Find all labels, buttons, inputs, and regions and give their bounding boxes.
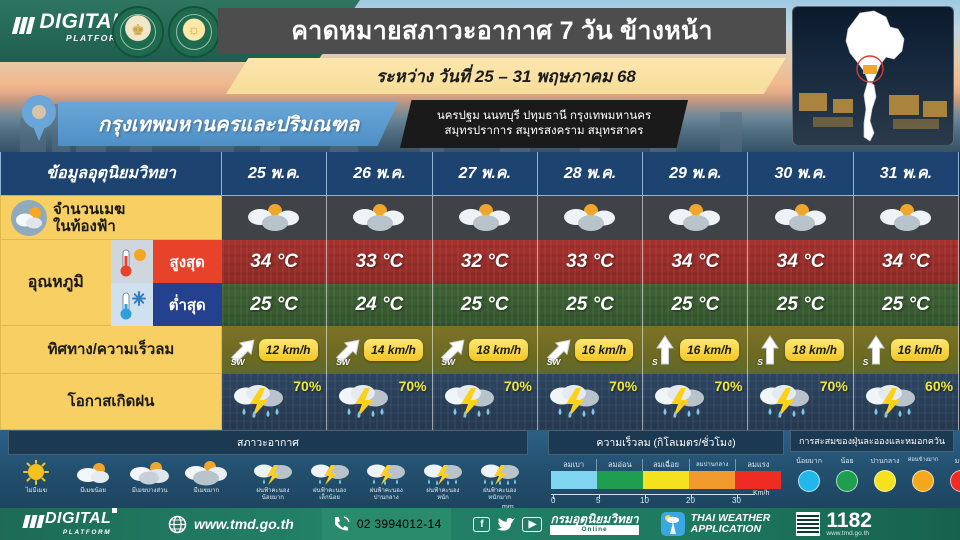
dust-band-2: ปานกลาง bbox=[866, 456, 904, 467]
footer-logo-subtitle: PLATFORM bbox=[45, 528, 111, 538]
dust-legend-captions: น้อยมาก น้อย ปานกลาง ค่อนข้างมาก มาก bbox=[790, 456, 960, 467]
wind-band-0: ลมเบา bbox=[551, 459, 596, 471]
website-text: www.tmd.go.th bbox=[194, 516, 294, 532]
temp-min-tag: ต่ำสุด bbox=[153, 283, 223, 326]
cloud-label-line1: จำนวนเมฆ bbox=[53, 201, 125, 218]
wind-arrow-icon-4: SW bbox=[547, 333, 573, 367]
wind-speed-1: 12 km/h bbox=[259, 339, 318, 361]
rain-chance-4: 70% bbox=[609, 378, 637, 394]
wind-speed-3: 18 km/h bbox=[469, 339, 528, 361]
province-line-2: สมุทรปราการ สมุทรสงคราม สมุทรสาคร bbox=[445, 124, 644, 139]
thunderstorm-icon-3 bbox=[439, 378, 501, 426]
hotline-number: 1182 bbox=[826, 511, 872, 530]
temp-min-legend: ต่ำสุด bbox=[111, 283, 223, 326]
temp-min-value-4: 25 °C bbox=[566, 294, 614, 316]
temp-max-cell-5: 34 °C bbox=[643, 240, 748, 284]
weather-legend: สภาวะอากาศ ไม่มีเมฆ มีเมฆน้อย มีเมฆบางส่… bbox=[8, 430, 528, 520]
date-header-6: 30 พ.ค. bbox=[748, 152, 853, 196]
temp-max-value-1: 34 °C bbox=[250, 251, 298, 273]
cloud-cell-2 bbox=[327, 196, 432, 240]
header-banner: DIGITAL PLATFORM ♚ ☼ คาดหมายสภาวะอากาศ 7… bbox=[0, 0, 960, 152]
legend-cloud-3: มีเมฆมาก bbox=[178, 460, 235, 495]
phone-icon bbox=[332, 515, 350, 533]
thailand-outline-icon bbox=[834, 9, 912, 145]
wind-speed-6: 18 km/h bbox=[785, 339, 844, 361]
wind-arrow-icon-7: S bbox=[863, 333, 889, 367]
dust-band-1: น้อย bbox=[828, 456, 866, 467]
phone-block[interactable]: 02 3994012-14 bbox=[322, 508, 452, 540]
temp-max-value-2: 33 °C bbox=[356, 251, 404, 273]
phone-text: 02 3994012-14 bbox=[357, 517, 442, 531]
temp-max-cell-6: 34 °C bbox=[748, 240, 853, 284]
thunderstorm-icon-4 bbox=[544, 378, 606, 426]
rain-chance-7: 60% bbox=[925, 378, 953, 394]
temp-min-cell-2: 24 °C bbox=[327, 284, 432, 326]
wind-scale-2: 10 bbox=[640, 496, 649, 505]
rain-chance-3: 70% bbox=[504, 378, 532, 394]
wind-legend-captions: ลมเบา ลมอ่อน ลมเฉื่อย ลมปานกลาง ลมแรง bbox=[551, 459, 781, 471]
wind-cell-6: S 18 km/h bbox=[748, 326, 853, 374]
wind-dir-2: SW bbox=[336, 357, 350, 367]
temp-min-value-7: 25 °C bbox=[882, 294, 930, 316]
dust-band-0: น้อยมาก bbox=[790, 456, 828, 467]
temp-max-value-3: 32 °C bbox=[461, 251, 509, 273]
wind-dir-5: S bbox=[652, 357, 658, 367]
footer-logo-title: DIGITAL bbox=[45, 510, 111, 527]
legend-cloud-0: ไม่มีเมฆ bbox=[8, 460, 65, 495]
wind-speed-4: 16 km/h bbox=[575, 339, 634, 361]
legend-rain-caption-2: ฝนฟ้าคะนองปานกลาง bbox=[370, 488, 403, 502]
cloud-cell-4 bbox=[538, 196, 643, 240]
wind-dir-6: S bbox=[757, 357, 763, 367]
dust-legend-title: การสะสมของฝุ่นละอองและหมอกควัน bbox=[790, 430, 954, 452]
wind-scale-4: 30 bbox=[732, 496, 741, 505]
wind-legend: ความเร็วลม (กิโลเมตร/ชั่วโมง) ลมเบา ลมอ่… bbox=[548, 430, 784, 505]
wind-arrow-icon-1: SW bbox=[231, 333, 257, 367]
region-name: กรุงเทพมหานครและปริมณฑล bbox=[98, 108, 359, 140]
agency-name: กรมอุตุนิยมวิทยา bbox=[550, 512, 638, 526]
date-header-2: 26 พ.ค. bbox=[327, 152, 432, 196]
thunderstorm-icon-5 bbox=[649, 378, 711, 426]
temp-max-cell-7: 34 °C bbox=[854, 240, 959, 284]
wind-cell-2: SW 14 km/h bbox=[327, 326, 432, 374]
rain-cell-5: 70% bbox=[643, 374, 748, 430]
wind-dir-4: SW bbox=[547, 357, 561, 367]
legend-rain-caption-4: ฝนฟ้าคะนองหนักมาก bbox=[483, 488, 516, 502]
rain-cell-4: 70% bbox=[538, 374, 643, 430]
dust-legend: การสะสมของฝุ่นละอองและหมอกควัน น้อยมาก น… bbox=[790, 430, 954, 492]
wind-arrow-icon-6: S bbox=[757, 333, 783, 367]
temp-min-value-3: 25 °C bbox=[461, 294, 509, 316]
twitter-icon[interactable] bbox=[496, 516, 516, 532]
legend-cloud-1: มีเมฆน้อย bbox=[65, 460, 122, 495]
rain-chance-1: 70% bbox=[293, 378, 321, 394]
cloud-cell-7 bbox=[854, 196, 959, 240]
temp-min-cell-5: 25 °C bbox=[643, 284, 748, 326]
agency-online-badge: Online bbox=[550, 525, 638, 535]
temp-min-cell-6: 25 °C bbox=[748, 284, 853, 326]
wind-dir-3: SW bbox=[441, 357, 455, 367]
digital-platform-logo: DIGITAL PLATFORM bbox=[14, 12, 125, 43]
rain-row: โอกาสเกิดฝน 70% 70% 70% 70% bbox=[0, 374, 960, 430]
legend-rain-3: ฝนฟ้าคะนองหนัก bbox=[415, 460, 472, 502]
temp-min-cell-3: 25 °C bbox=[433, 284, 538, 326]
region-bar: กรุงเทพมหานครและปริมณฑล bbox=[58, 102, 398, 146]
temp-min-value-2: 24 °C bbox=[356, 294, 404, 316]
wind-cell-5: S 16 km/h bbox=[643, 326, 748, 374]
app-line-2: APPLICATION bbox=[691, 524, 771, 535]
temp-row-label: อุณหภูมิ สูงสุด bbox=[0, 240, 222, 326]
temp-max-value-5: 34 °C bbox=[671, 251, 719, 273]
temp-min-cell-4: 25 °C bbox=[538, 284, 643, 326]
logo-bars-icon bbox=[14, 17, 35, 39]
rain-chance-6: 70% bbox=[820, 378, 848, 394]
cloud-row-label: จำนวนเมฆ ในท้องฟ้า bbox=[0, 196, 222, 240]
rain-row-label: โอกาสเกิดฝน bbox=[0, 374, 222, 430]
main-title-bar: คาดหมายสภาวะอากาศ 7 วัน ข้างหน้า bbox=[218, 8, 786, 54]
temp-max-legend: สูงสุด bbox=[111, 240, 223, 283]
temp-min-value-5: 25 °C bbox=[671, 294, 719, 316]
dust-dot-4 bbox=[950, 470, 960, 492]
wind-scale-3: 20 bbox=[686, 496, 695, 505]
wind-row-label: ทิศทาง/ความเร็วลม bbox=[0, 326, 222, 374]
wind-scale-unit: Km/h bbox=[753, 490, 769, 497]
dust-dot-0 bbox=[798, 470, 820, 492]
infographic-root: DIGITAL PLATFORM ♚ ☼ คาดหมายสภาวะอากาศ 7… bbox=[0, 0, 960, 540]
thunderstorm-icon-2 bbox=[333, 378, 395, 426]
thai-weather-app[interactable]: THAI WEATHER APPLICATION bbox=[661, 512, 771, 536]
wind-cell-7: S 16 km/h bbox=[854, 326, 959, 374]
wind-band-3: ลมปานกลาง bbox=[689, 459, 735, 471]
cloud-cell-1 bbox=[222, 196, 327, 240]
temp-max-value-7: 34 °C bbox=[882, 251, 930, 273]
footer-bar: DIGITAL PLATFORM www.tmd.go.th 02 399401… bbox=[0, 508, 960, 540]
wind-row: ทิศทาง/ความเร็วลม SW 12 km/h SW 14 km/h … bbox=[0, 326, 960, 374]
cloud-label-line2: ในท้องฟ้า bbox=[53, 218, 116, 235]
rain-chance-5: 70% bbox=[714, 378, 742, 394]
thermometer-hot-icon bbox=[111, 240, 153, 283]
date-header-3: 27 พ.ค. bbox=[433, 152, 538, 196]
page-title: คาดหมายสภาวะอากาศ 7 วัน ข้างหน้า bbox=[291, 11, 713, 51]
wind-speed-5: 16 km/h bbox=[680, 339, 739, 361]
legend-rain-caption-3: ฝนฟ้าคะนองหนัก bbox=[426, 488, 459, 502]
cloud-cell-3 bbox=[433, 196, 538, 240]
cloud-sun-icon bbox=[11, 200, 47, 236]
hotline-block[interactable]: 1182 www.tmd.go.th bbox=[796, 511, 872, 537]
temp-min-cell-7: 25 °C bbox=[854, 284, 959, 326]
footer-logo-square-icon bbox=[112, 508, 117, 513]
website-link[interactable]: www.tmd.go.th bbox=[168, 515, 294, 534]
thunderstorm-icon-1 bbox=[228, 378, 290, 426]
wind-band-2: ลมเฉื่อย bbox=[642, 459, 688, 471]
wind-cell-3: SW 18 km/h bbox=[433, 326, 538, 374]
temp-max-cell-3: 32 °C bbox=[433, 240, 538, 284]
hotline-website: www.tmd.go.th bbox=[826, 530, 872, 537]
social-links[interactable]: f ▶ กรมอุตุนิยมวิทยา Online bbox=[473, 514, 638, 535]
table-corner-label: ข้อมูลอุตุนิยมวิทยา bbox=[0, 152, 222, 196]
temp-max-cell-1: 34 °C bbox=[222, 240, 327, 284]
youtube-icon[interactable]: ▶ bbox=[522, 517, 542, 532]
dust-color-dots bbox=[790, 467, 960, 492]
legend-cloud-2: มีเมฆบางส่วน bbox=[121, 460, 178, 495]
date-header-1: 25 พ.ค. bbox=[222, 152, 327, 196]
temp-min-cell-1: 25 °C bbox=[222, 284, 327, 326]
facebook-icon[interactable]: f bbox=[473, 517, 490, 532]
forecast-table: ข้อมูลอุตุนิยมวิทยา 25 พ.ค. 26 พ.ค. 27 พ… bbox=[0, 152, 960, 430]
cloud-cell-5 bbox=[643, 196, 748, 240]
table-header-row: ข้อมูลอุตุนิยมวิทยา 25 พ.ค. 26 พ.ค. 27 พ… bbox=[0, 152, 960, 196]
wind-cell-1: SW 12 km/h bbox=[222, 326, 327, 374]
footer-logo: DIGITAL PLATFORM bbox=[0, 510, 150, 538]
wind-arrow-icon-5: S bbox=[652, 333, 678, 367]
dust-dot-3 bbox=[912, 470, 934, 492]
temp-max-cell-2: 33 °C bbox=[327, 240, 432, 284]
wind-scale-1: 5 bbox=[596, 496, 600, 505]
temp-min-value-1: 25 °C bbox=[250, 294, 298, 316]
cloud-row: จำนวนเมฆ ในท้องฟ้า bbox=[0, 196, 960, 240]
weather-legend-title: สภาวะอากาศ bbox=[8, 430, 528, 455]
wind-speed-2: 14 km/h bbox=[364, 339, 423, 361]
qr-code-icon[interactable] bbox=[796, 512, 820, 536]
date-header-7: 31 พ.ค. bbox=[854, 152, 959, 196]
temp-max-value-6: 34 °C bbox=[777, 251, 825, 273]
dust-dot-2 bbox=[874, 470, 896, 492]
royal-seal-icon: ♚ bbox=[112, 6, 164, 58]
thunderstorm-icon-6 bbox=[754, 378, 816, 426]
tmd-seal-icon: ☼ bbox=[168, 6, 220, 58]
wind-dir-7: S bbox=[863, 357, 869, 367]
temp-label-text: อุณหภูมิ bbox=[1, 240, 111, 326]
footer-logo-bars-icon bbox=[24, 515, 45, 533]
rain-cell-6: 70% bbox=[748, 374, 853, 430]
wind-arrow-icon-3: SW bbox=[441, 333, 467, 367]
rain-cell-7: 60% bbox=[854, 374, 959, 430]
date-header-4: 28 พ.ค. bbox=[538, 152, 643, 196]
date-header-5: 29 พ.ค. bbox=[643, 152, 748, 196]
legend-bar: สภาวะอากาศ ไม่มีเมฆ มีเมฆน้อย มีเมฆบางส่… bbox=[0, 430, 960, 508]
rain-cell-1: 70% bbox=[222, 374, 327, 430]
wind-legend-title: ความเร็วลม (กิโลเมตร/ชั่วโมง) bbox=[548, 430, 784, 455]
dust-dot-1 bbox=[836, 470, 858, 492]
legend-rain-0: ฝนฟ้าคะนองน้อยมาก bbox=[245, 460, 302, 502]
dust-band-4: มาก bbox=[942, 456, 960, 467]
legend-rain-4: ฝนฟ้าคะนองหนักมาก bbox=[471, 460, 528, 502]
globe-icon bbox=[168, 515, 187, 534]
wind-scale: 0 5 10 20 30 Km/h bbox=[551, 489, 781, 505]
legend-rain-2: ฝนฟ้าคะนองปานกลาง bbox=[358, 460, 415, 502]
province-line-1: นครปฐม นนทบุรี ปทุมธานี กรุงเทพมหานคร bbox=[437, 109, 651, 124]
temp-max-value-4: 33 °C bbox=[566, 251, 614, 273]
rain-chance-2: 70% bbox=[399, 378, 427, 394]
weather-app-icon bbox=[661, 512, 685, 536]
legend-rain-caption-1: ฝนฟ้าคะนองเล็กน้อย bbox=[313, 488, 346, 502]
province-list: นครปฐม นนทบุรี ปทุมธานี กรุงเทพมหานคร สม… bbox=[400, 100, 688, 148]
thailand-map-inset bbox=[792, 6, 954, 146]
temp-max-cell-4: 33 °C bbox=[538, 240, 643, 284]
rain-cell-2: 70% bbox=[327, 374, 432, 430]
wind-scale-0: 0 bbox=[551, 496, 555, 505]
temp-min-value-6: 25 °C bbox=[777, 294, 825, 316]
location-pin-icon bbox=[22, 95, 56, 141]
wind-speed-7: 16 km/h bbox=[891, 339, 950, 361]
thermometer-cold-icon bbox=[111, 283, 153, 326]
rain-cell-3: 70% bbox=[433, 374, 538, 430]
date-range-bar: ระหว่าง วันที่ 25 – 31 พฤษภาคม 68 bbox=[226, 58, 786, 94]
wind-arrow-icon-2: SW bbox=[336, 333, 362, 367]
wind-dir-1: SW bbox=[231, 357, 245, 367]
wind-band-4: ลมแรง bbox=[735, 459, 781, 471]
dust-band-3: ค่อนข้างมาก bbox=[904, 456, 942, 467]
temp-max-tag: สูงสุด bbox=[153, 240, 223, 283]
date-range-text: ระหว่าง วันที่ 25 – 31 พฤษภาคม 68 bbox=[376, 63, 636, 90]
legend-rain-1: ฝนฟ้าคะนองเล็กน้อย bbox=[301, 460, 358, 502]
wind-band-1: ลมอ่อน bbox=[596, 459, 642, 471]
wind-cell-4: SW 16 km/h bbox=[538, 326, 643, 374]
legend-rain-caption-0: ฝนฟ้าคะนองน้อยมาก bbox=[256, 488, 289, 502]
thunderstorm-icon-7 bbox=[860, 378, 922, 426]
cloud-cell-6 bbox=[748, 196, 853, 240]
wind-color-bar bbox=[551, 471, 781, 489]
